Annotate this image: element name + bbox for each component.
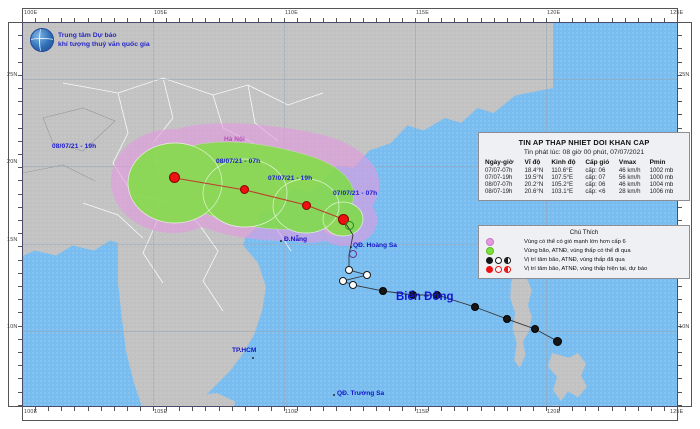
forecast-table: Ngày-giờVĩ độKinh độCấp gióVmaxPmin 07/0… xyxy=(485,159,683,195)
lon-minor-tick xyxy=(35,407,36,411)
forecast-cell-1-3: cấp: 07 xyxy=(585,174,619,181)
city-label-hanoi: Hà Nội xyxy=(224,136,245,143)
lat-minor-tick xyxy=(18,62,22,63)
legend-symbol-red-storm-icons xyxy=(484,266,520,273)
forecast-row: 08/07-07h20.2°N105.2°Ecấp: 0646 km/h1004… xyxy=(485,181,683,188)
lat-minor-tick xyxy=(678,299,682,300)
lat-minor-tick xyxy=(18,312,22,313)
lon-minor-tick xyxy=(546,18,547,22)
lon-minor-tick xyxy=(166,407,167,411)
latitude-ruler-right xyxy=(678,22,692,407)
forecast-col-0: Ngày-giờ xyxy=(485,159,525,167)
lat-minor-tick xyxy=(678,339,682,340)
lon-minor-tick xyxy=(205,407,206,411)
lon-minor-tick xyxy=(585,407,586,411)
lon-minor-tick xyxy=(88,407,89,411)
lon-minor-tick xyxy=(363,18,364,22)
forecast-cell-0-3: cấp: 06 xyxy=(585,167,619,174)
forecast-cell-1-1: 19.5°N xyxy=(525,174,552,181)
lon-minor-tick xyxy=(481,407,482,411)
lon-tick-label-100E-top: 100E xyxy=(24,10,37,16)
lat-minor-tick xyxy=(18,194,22,195)
lon-minor-tick xyxy=(258,407,259,411)
lat-minor-tick xyxy=(18,22,22,23)
lat-minor-tick xyxy=(18,286,22,287)
forecast-cell-0-1: 18.4°N xyxy=(525,167,552,174)
lat-minor-tick xyxy=(678,365,682,366)
lon-minor-tick xyxy=(664,407,665,411)
lon-minor-tick xyxy=(376,407,377,411)
lon-minor-tick xyxy=(402,18,403,22)
lon-minor-tick xyxy=(363,407,364,411)
storm-filled-red-icon xyxy=(486,266,493,273)
past-track-node xyxy=(531,325,539,333)
agency-logo: Trung tâm Dự báo khí tượng thuỷ văn quốc… xyxy=(30,28,150,52)
legend-label-3: Vị trí tâm bão, ATNĐ, vùng thấp hiện tại… xyxy=(524,266,647,272)
lat-minor-tick xyxy=(18,405,22,406)
lon-minor-tick xyxy=(415,18,416,22)
lat-minor-tick xyxy=(18,88,22,89)
city-label-tphcm: TP.HCM xyxy=(232,347,256,354)
lat-minor-tick xyxy=(18,141,22,142)
lon-minor-tick xyxy=(494,18,495,22)
lon-minor-tick xyxy=(441,407,442,411)
lon-minor-tick xyxy=(271,407,272,411)
lat-minor-tick xyxy=(18,392,22,393)
forecast-cell-2-5: 1004 mb xyxy=(650,181,683,188)
storm-filled-black-icon xyxy=(486,257,493,264)
lon-tick-label-115E-top: 115E xyxy=(416,10,429,16)
lat-minor-tick xyxy=(678,88,682,89)
forecast-table-header: Ngày-giờVĩ độKinh độCấp gióVmaxPmin xyxy=(485,159,683,167)
past-track-node xyxy=(471,303,479,311)
lat-minor-tick xyxy=(18,75,22,76)
lat-minor-tick xyxy=(678,286,682,287)
lat-minor-tick xyxy=(18,48,22,49)
forecast-cell-0-5: 1002 mb xyxy=(650,167,683,174)
lon-minor-tick xyxy=(467,407,468,411)
lat-minor-tick xyxy=(678,352,682,353)
forecast-label-0: 08/07/21 - 19h xyxy=(52,143,96,150)
lon-tick-label-105E-top: 105E xyxy=(154,10,167,16)
lon-minor-tick xyxy=(585,18,586,22)
lat-minor-tick xyxy=(18,128,22,129)
forecast-cell-3-2: 103.1°E xyxy=(551,188,585,195)
legend-label-2: Vị trí tâm bão, ATNĐ, vùng thấp đã qua xyxy=(524,257,625,263)
lon-minor-tick xyxy=(245,407,246,411)
lon-minor-tick xyxy=(572,18,573,22)
lon-minor-tick xyxy=(22,407,23,411)
city-label-danang: Đ.Nẵng xyxy=(284,236,307,243)
forecast-cell-2-1: 20.2°N xyxy=(525,181,552,188)
storm-half-red-icon xyxy=(504,266,511,273)
lon-minor-tick xyxy=(415,407,416,411)
lon-minor-tick xyxy=(88,18,89,22)
forecast-cell-0-0: 07/07-07h xyxy=(485,167,525,174)
legend-label-1: Vùng bão, ATNĐ, vùng thấp có thể đi qua xyxy=(524,248,631,254)
lat-minor-tick xyxy=(18,167,22,168)
forecast-cell-3-1: 20.6°N xyxy=(525,188,552,195)
typhoon-map-screenshot: Hà Nội 08/07/21 - 19h 08/07/21 - 07h 07/… xyxy=(0,0,700,429)
current-position-green-ring xyxy=(345,221,354,230)
lon-minor-tick xyxy=(598,407,599,411)
lon-tick-label-120E-top: 120E xyxy=(547,10,560,16)
lon-minor-tick xyxy=(651,407,652,411)
lon-minor-tick xyxy=(166,18,167,22)
forecast-col-4: Vmax xyxy=(619,159,650,167)
lon-minor-tick xyxy=(114,18,115,22)
forecast-cell-3-0: 08/07-19h xyxy=(485,188,525,195)
forecast-cell-3-4: 28 km/h xyxy=(619,188,650,195)
lon-minor-tick xyxy=(48,18,49,22)
lon-minor-tick xyxy=(520,18,521,22)
lat-minor-tick xyxy=(678,35,682,36)
lat-tick-label-25N-left: 25N xyxy=(7,72,18,78)
lat-tick-label-20N-left: 20N xyxy=(7,159,18,165)
lon-minor-tick xyxy=(101,407,102,411)
lon-minor-tick xyxy=(74,407,75,411)
forecast-cell-2-4: 46 km/h xyxy=(619,181,650,188)
lon-minor-tick xyxy=(205,18,206,22)
lon-minor-tick xyxy=(559,407,560,411)
lat-minor-tick xyxy=(18,101,22,102)
lon-minor-tick xyxy=(271,18,272,22)
lat-minor-tick xyxy=(18,326,22,327)
legend-label-0: Vùng có thể có gió mạnh lớn hơn cấp 6 xyxy=(524,239,626,245)
forecast-row: 08/07-19h20.6°N103.1°Ecấp: <628 km/h1006… xyxy=(485,188,683,195)
lat-minor-tick xyxy=(18,154,22,155)
legend-row-past-positions: Vị trí tâm bão, ATNĐ, vùng thấp đã qua xyxy=(484,256,684,264)
lon-minor-tick xyxy=(350,407,351,411)
lon-minor-tick xyxy=(153,407,154,411)
lat-minor-tick xyxy=(18,207,22,208)
lon-minor-tick xyxy=(625,407,626,411)
sea-label-bien-dong: Biển Đông xyxy=(396,291,454,303)
forecast-uncertainty-zones xyxy=(23,23,678,407)
past-node-purple-ring xyxy=(349,250,357,258)
lon-minor-tick xyxy=(638,407,639,411)
lat-minor-tick xyxy=(678,75,682,76)
lon-minor-tick xyxy=(520,407,521,411)
lon-minor-tick xyxy=(533,407,534,411)
legend-row-pink-zone: Vùng có thể có gió mạnh lớn hơn cấp 6 xyxy=(484,238,684,246)
lon-minor-tick xyxy=(677,407,678,411)
lat-minor-tick xyxy=(18,352,22,353)
lat-minor-tick xyxy=(18,260,22,261)
forecast-cell-3-3: cấp: <6 xyxy=(585,188,619,195)
forecast-cell-0-2: 110.6°E xyxy=(551,167,585,174)
lon-minor-tick xyxy=(232,407,233,411)
legend-symbol-green-dot xyxy=(484,247,520,255)
forecast-label-1: 08/07/21 - 07h xyxy=(216,158,260,165)
bulletin-issued-time: Tin phát lúc: 08 giờ 00 phút, 07/07/2021 xyxy=(485,149,683,156)
lon-minor-tick xyxy=(507,407,508,411)
past-track-node xyxy=(553,337,562,346)
forecast-row: 07/07-19h19.5°N107.5°Ecấp: 0756 km/h1000… xyxy=(485,174,683,181)
forecast-label-2: 07/07/21 - 19h xyxy=(268,175,312,182)
lon-minor-tick xyxy=(572,407,573,411)
lon-minor-tick xyxy=(651,18,652,22)
weather-map[interactable] xyxy=(22,22,678,407)
lat-minor-tick xyxy=(678,220,682,221)
forecast-cell-1-4: 56 km/h xyxy=(619,174,650,181)
forecast-col-3: Cấp gió xyxy=(585,159,619,167)
lon-minor-tick xyxy=(61,407,62,411)
forecast-cell-2-3: cấp: 06 xyxy=(585,181,619,188)
forecast-cell-3-5: 1006 mb xyxy=(650,188,683,195)
lat-minor-tick xyxy=(678,101,682,102)
lat-minor-tick xyxy=(18,339,22,340)
legend-symbol-pink-dot xyxy=(484,238,520,246)
lat-tick-label-10N-left: 10N xyxy=(7,324,18,330)
bulletin-title: TIN AP THAP NHIET DOI KHAN CAP xyxy=(485,138,683,147)
lat-minor-tick xyxy=(18,114,22,115)
forecast-cell-1-2: 107.5°E xyxy=(551,174,585,181)
lat-minor-tick xyxy=(18,378,22,379)
lon-minor-tick xyxy=(612,18,613,22)
lon-minor-tick xyxy=(336,407,337,411)
forecast-cell-1-5: 1000 mb xyxy=(650,174,683,181)
lon-minor-tick xyxy=(323,407,324,411)
lon-minor-tick xyxy=(179,18,180,22)
lon-minor-tick xyxy=(494,407,495,411)
lon-minor-tick xyxy=(114,407,115,411)
lon-minor-tick xyxy=(402,407,403,411)
lon-tick-label-125E-top: 125E xyxy=(670,10,683,16)
lon-minor-tick xyxy=(22,18,23,22)
lat-tick-label-15N-left: 15N xyxy=(7,237,18,243)
lon-minor-tick xyxy=(219,18,220,22)
lat-minor-tick xyxy=(18,365,22,366)
lon-minor-tick xyxy=(310,407,311,411)
lon-minor-tick xyxy=(664,18,665,22)
agency-name-line1: Trung tâm Dự báo xyxy=(58,31,150,40)
past-track-node xyxy=(379,287,387,295)
lon-minor-tick xyxy=(258,18,259,22)
forecast-col-2: Kinh độ xyxy=(551,159,585,167)
lon-minor-tick xyxy=(192,407,193,411)
lon-minor-tick xyxy=(284,407,285,411)
lat-minor-tick xyxy=(678,128,682,129)
legend-symbol-black-storm-icons xyxy=(484,257,520,264)
lon-minor-tick xyxy=(284,18,285,22)
lon-minor-tick xyxy=(35,18,36,22)
lon-minor-tick xyxy=(533,18,534,22)
lon-minor-tick xyxy=(559,18,560,22)
lat-minor-tick xyxy=(18,233,22,234)
lat-minor-tick xyxy=(678,392,682,393)
lon-minor-tick xyxy=(245,18,246,22)
forecast-col-5: Pmin xyxy=(650,159,683,167)
latitude-ruler-left xyxy=(8,22,22,407)
lon-minor-tick xyxy=(389,407,390,411)
lat-minor-tick xyxy=(678,48,682,49)
lat-minor-tick xyxy=(18,273,22,274)
lat-minor-tick xyxy=(18,246,22,247)
lon-minor-tick xyxy=(192,18,193,22)
lon-minor-tick xyxy=(101,18,102,22)
storm-open-black-icon xyxy=(495,257,502,264)
lon-minor-tick xyxy=(625,18,626,22)
lat-minor-tick xyxy=(678,114,682,115)
lon-minor-tick xyxy=(546,407,547,411)
forecast-row: 07/07-07h18.4°N110.6°Ecấp: 0646 km/h1002… xyxy=(485,167,683,174)
lon-minor-tick xyxy=(153,18,154,22)
lat-minor-tick xyxy=(18,299,22,300)
forecast-cell-2-2: 105.2°E xyxy=(551,181,585,188)
legend-row-current-forecast-positions: Vị trí tâm bão, ATNĐ, vùng thấp hiện tại… xyxy=(484,265,684,273)
lon-minor-tick xyxy=(507,18,508,22)
forecast-label-3: 07/07/21 - 07h xyxy=(333,190,377,197)
bulletin-panel: TIN AP THAP NHIET DOI KHAN CAP Tin phát … xyxy=(478,132,690,201)
lon-minor-tick xyxy=(350,18,351,22)
lon-minor-tick xyxy=(179,407,180,411)
globe-icon xyxy=(30,28,54,52)
past-track-node xyxy=(345,266,353,274)
legend-row-green-zone: Vùng bão, ATNĐ, vùng thấp có thể đi qua xyxy=(484,247,684,255)
lat-minor-tick xyxy=(678,405,682,406)
lat-minor-tick xyxy=(18,180,22,181)
lat-minor-tick xyxy=(18,35,22,36)
lon-minor-tick xyxy=(310,18,311,22)
lat-minor-tick xyxy=(678,22,682,23)
lat-minor-tick xyxy=(678,207,682,208)
lon-minor-tick xyxy=(74,18,75,22)
forecast-table-body: 07/07-07h18.4°N110.6°Ecấp: 0646 km/h1002… xyxy=(485,167,683,195)
agency-name-line2: khí tượng thuỷ văn quốc gia xyxy=(58,40,150,49)
forecast-col-1: Vĩ độ xyxy=(525,159,552,167)
lon-minor-tick xyxy=(140,407,141,411)
lat-minor-tick xyxy=(678,378,682,379)
lon-minor-tick xyxy=(127,407,128,411)
lat-minor-tick xyxy=(678,62,682,63)
forecast-node-0807-07h[interactable] xyxy=(240,185,249,194)
past-track-node xyxy=(339,277,347,285)
forecast-cell-2-0: 08/07-07h xyxy=(485,181,525,188)
lon-minor-tick xyxy=(454,407,455,411)
legend-title: Chú Thích xyxy=(484,229,684,236)
past-track-node xyxy=(363,271,371,279)
lon-minor-tick xyxy=(48,407,49,411)
past-track-node xyxy=(503,315,511,323)
lon-minor-tick xyxy=(61,18,62,22)
lon-minor-tick xyxy=(389,18,390,22)
island-label-truongsa: QĐ. Trường Sa xyxy=(337,390,384,397)
lon-minor-tick xyxy=(428,407,429,411)
forecast-cell-1-0: 07/07-19h xyxy=(485,174,525,181)
forecast-node-0807-19h[interactable] xyxy=(169,172,180,183)
lon-minor-tick xyxy=(219,407,220,411)
lon-minor-tick xyxy=(127,18,128,22)
lon-minor-tick xyxy=(336,18,337,22)
lat-minor-tick xyxy=(678,326,682,327)
lon-tick-label-115E-bottom: 115E xyxy=(416,409,429,415)
lon-minor-tick xyxy=(297,18,298,22)
storm-open-red-icon xyxy=(495,266,502,273)
forecast-cell-0-4: 46 km/h xyxy=(619,167,650,174)
past-track-node xyxy=(349,281,357,289)
lon-minor-tick xyxy=(376,18,377,22)
forecast-node-0707-19h[interactable] xyxy=(302,201,311,210)
lon-minor-tick xyxy=(428,18,429,22)
lat-minor-tick xyxy=(18,220,22,221)
lon-minor-tick xyxy=(638,18,639,22)
lat-minor-tick xyxy=(678,312,682,313)
lon-minor-tick xyxy=(140,18,141,22)
lon-minor-tick xyxy=(454,18,455,22)
lon-minor-tick xyxy=(467,18,468,22)
lon-minor-tick xyxy=(297,407,298,411)
lon-tick-label-110E-top: 110E xyxy=(285,10,298,16)
lon-minor-tick xyxy=(232,18,233,22)
lon-minor-tick xyxy=(598,18,599,22)
island-label-hoangsa: QĐ. Hoàng Sa xyxy=(353,242,397,249)
lon-minor-tick xyxy=(441,18,442,22)
lon-tick-label-110E-bottom: 110E xyxy=(285,409,298,415)
storm-half-black-icon xyxy=(504,257,511,264)
lon-minor-tick xyxy=(612,407,613,411)
lon-minor-tick xyxy=(481,18,482,22)
legend-panel: Chú Thích Vùng có thể có gió mạnh lớn hơ… xyxy=(478,225,690,279)
lon-minor-tick xyxy=(323,18,324,22)
